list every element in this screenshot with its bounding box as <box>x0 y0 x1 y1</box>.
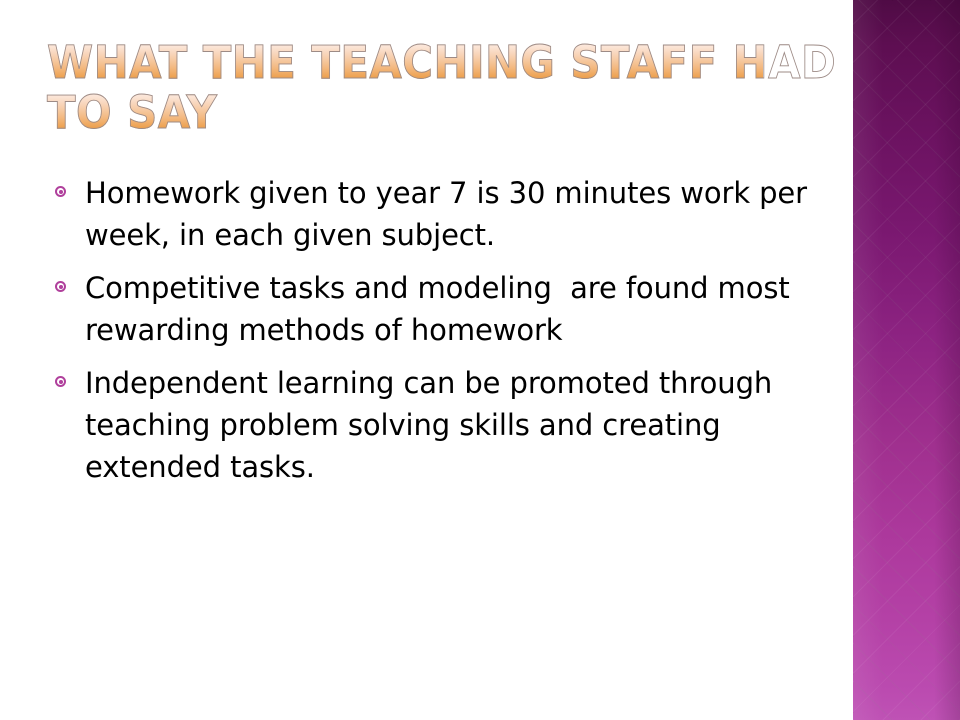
bullet-item-2: Competitive tasks and modeling are found… <box>55 267 815 351</box>
decorative-side-panel <box>853 0 960 720</box>
bullet-text-3: Independent learning can be promoted thr… <box>85 362 815 488</box>
bullet-marker-2 <box>55 267 85 292</box>
slide-title: WHAT THE TEACHING STAFF HAD TO SAY <box>47 38 817 138</box>
panel-right-edge-shadow <box>934 0 960 720</box>
slide-bullet-list: Homework given to year 7 is 30 minutes w… <box>55 172 815 499</box>
bullet-item-1: Homework given to year 7 is 30 minutes w… <box>55 172 815 256</box>
presentation-slide: WHAT THE TEACHING STAFF HAD TO SAY Homew… <box>0 0 960 720</box>
ring-dot-bullet-icon <box>55 281 66 292</box>
ring-dot-bullet-icon <box>55 186 66 197</box>
bullet-item-3: Independent learning can be promoted thr… <box>55 362 815 488</box>
bullet-marker-3 <box>55 362 85 387</box>
slide-title-line-2: TO SAY <box>47 88 763 138</box>
slide-title-line-1: WHAT THE TEACHING STAFF HAD <box>47 38 763 88</box>
panel-sheen-highlight <box>853 0 883 720</box>
bullet-marker-1 <box>55 172 85 197</box>
bullet-text-2: Competitive tasks and modeling are found… <box>85 267 815 351</box>
ring-dot-bullet-icon <box>55 376 66 387</box>
bullet-text-1: Homework given to year 7 is 30 minutes w… <box>85 172 815 256</box>
